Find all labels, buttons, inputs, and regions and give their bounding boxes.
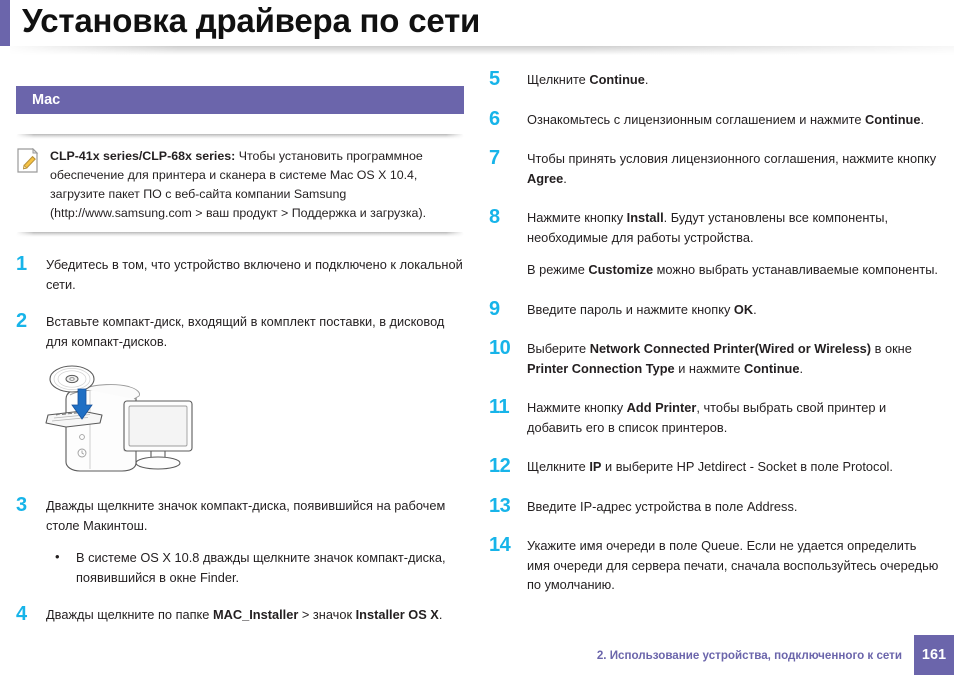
note-text: CLP-41x series/CLP-68x series: Чтобы уст…	[50, 147, 466, 223]
step-item: 6 Ознакомьтесь с лицензионным соглашение…	[489, 110, 941, 130]
step-paragraph: Вставьте компакт-диск, входящий в компле…	[46, 312, 466, 351]
step-text: Дважды щелкните значок компакт-диска, по…	[46, 496, 466, 587]
step-item: 7 Чтобы принять условия лицензионного со…	[489, 149, 941, 188]
step-number: 7	[489, 149, 527, 188]
step-text: Убедитесь в том, что устройство включено…	[46, 255, 466, 294]
step-item: 5 Щелкните Continue.	[489, 70, 941, 90]
step-paragraph: Щелкните IP и выберите HP Jetdirect - So…	[527, 457, 941, 477]
step-number: 5	[489, 70, 527, 90]
step-text: Щелкните Continue.	[527, 70, 941, 90]
step-number: 3	[16, 496, 46, 587]
step-paragraph: Убедитесь в том, что устройство включено…	[46, 255, 466, 294]
step-text: Нажмите кнопку Add Printer, чтобы выбрат…	[527, 398, 941, 437]
step-text: Вставьте компакт-диск, входящий в компле…	[46, 312, 466, 351]
step-paragraph: Нажмите кнопку Add Printer, чтобы выбрат…	[527, 398, 941, 437]
step-item: 3 Дважды щелкните значок компакт-диска, …	[16, 496, 466, 587]
title-accent-bar	[0, 0, 10, 46]
step-number: 11	[489, 398, 527, 437]
page-footer: 2. Использование устройства, подключенно…	[597, 635, 954, 675]
step-paragraph: Введите пароль и нажмите кнопку OK.	[527, 300, 941, 320]
step-number: 2	[16, 312, 46, 351]
step-item: 1 Убедитесь в том, что устройство включе…	[16, 255, 466, 294]
step-text: Дважды щелкните по папке MAC_Installer >…	[46, 605, 466, 625]
note-divider-top	[16, 134, 464, 139]
step-item: 10 Выберите Network Connected Printer(Wi…	[489, 339, 941, 378]
step-number: 13	[489, 497, 527, 517]
note-pencil-icon	[16, 147, 50, 223]
cd-insert-into-computer-illustration	[38, 365, 466, 478]
step-paragraph: Укажите имя очереди в поле Queue. Если н…	[527, 536, 941, 595]
note-bold-lead: CLP-41x series/CLP-68x series:	[50, 149, 235, 163]
step-number: 6	[489, 110, 527, 130]
step-text: Нажмите кнопку Install. Будут установлен…	[527, 208, 941, 280]
page-number-badge: 161	[914, 635, 954, 675]
step-number: 12	[489, 457, 527, 477]
step-paragraph: Дважды щелкните значок компакт-диска, по…	[46, 496, 466, 535]
step-text: Ознакомьтесь с лицензионным соглашением …	[527, 110, 941, 130]
right-column: 5 Щелкните Continue. 6 Ознакомьтесь с ли…	[489, 70, 941, 595]
step-paragraph: Введите IP-адрес устройства в поле Addre…	[527, 497, 941, 517]
list-item: В системе OS X 10.8 дважды щелкните знач…	[46, 548, 466, 587]
step-paragraph: Дважды щелкните по папке MAC_Installer >…	[46, 605, 466, 625]
step-item: 2 Вставьте компакт-диск, входящий в комп…	[16, 312, 466, 351]
step-number: 10	[489, 339, 527, 378]
step-bullet-list: В системе OS X 10.8 дважды щелкните знач…	[46, 548, 466, 587]
step-text: Щелкните IP и выберите HP Jetdirect - So…	[527, 457, 941, 477]
step-text: Введите пароль и нажмите кнопку OK.	[527, 300, 941, 320]
left-column: Mac CLP-41x series/CLP-68x series: Чтобы…	[16, 86, 466, 625]
footer-chapter-label: 2. Использование устройства, подключенно…	[597, 649, 914, 662]
step-number: 9	[489, 300, 527, 320]
step-item: 4 Дважды щелкните по папке MAC_Installer…	[16, 605, 466, 625]
step-paragraph: Ознакомьтесь с лицензионным соглашением …	[527, 110, 941, 130]
step-item: 14 Укажите имя очереди в поле Queue. Есл…	[489, 536, 941, 595]
page-header: Установка драйвера по сети	[0, 0, 954, 46]
step-paragraph-secondary: В режиме Customize можно выбрать устанав…	[527, 260, 941, 280]
step-number: 1	[16, 255, 46, 294]
step-text: Введите IP-адрес устройства в поле Addre…	[527, 497, 941, 517]
step-text: Выберите Network Connected Printer(Wired…	[527, 339, 941, 378]
step-text: Чтобы принять условия лицензионного согл…	[527, 149, 941, 188]
step-item: 13 Введите IP-адрес устройства в поле Ad…	[489, 497, 941, 517]
step-number: 4	[16, 605, 46, 625]
step-paragraph: Выберите Network Connected Printer(Wired…	[527, 339, 941, 378]
title-divider	[10, 46, 954, 55]
step-number: 14	[489, 536, 527, 595]
note-divider-bottom	[16, 232, 464, 237]
step-paragraph: Чтобы принять условия лицензионного согл…	[527, 149, 941, 188]
step-item: 9 Введите пароль и нажмите кнопку OK.	[489, 300, 941, 320]
page-title: Установка драйвера по сети	[22, 0, 480, 44]
step-number: 8	[489, 208, 527, 280]
step-item: 11 Нажмите кнопку Add Printer, чтобы выб…	[489, 398, 941, 437]
note-box: CLP-41x series/CLP-68x series: Чтобы уст…	[16, 139, 466, 225]
step-paragraph: Щелкните Continue.	[527, 70, 941, 90]
step-item: 8 Нажмите кнопку Install. Будут установл…	[489, 208, 941, 280]
step-text: Укажите имя очереди в поле Queue. Если н…	[527, 536, 941, 595]
step-paragraph: Нажмите кнопку Install. Будут установлен…	[527, 208, 941, 247]
step-item: 12 Щелкните IP и выберите HP Jetdirect -…	[489, 457, 941, 477]
section-header-mac: Mac	[16, 86, 464, 114]
